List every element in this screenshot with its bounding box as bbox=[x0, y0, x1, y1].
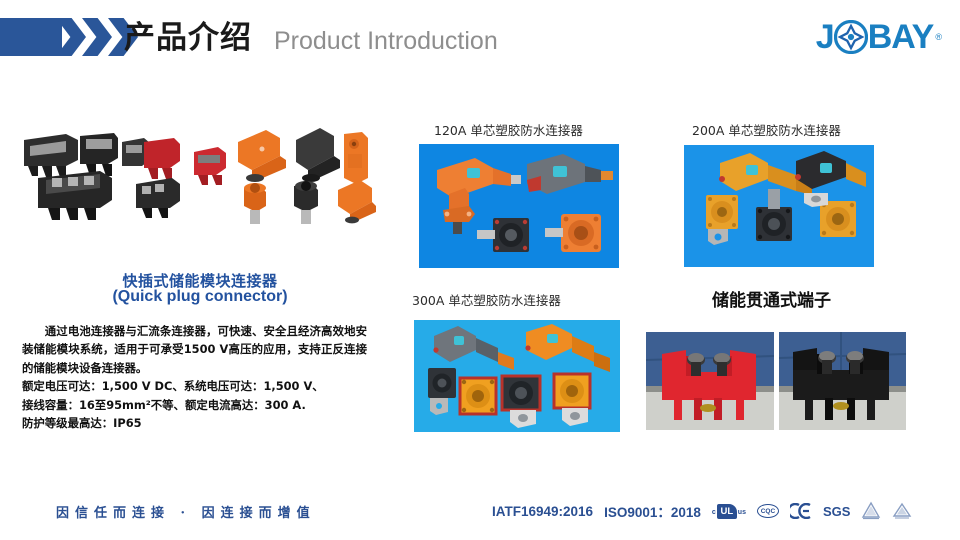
body-paragraph-1: 通过电池连接器与汇流条连接器，可快速、安全且经济高效地安装储能模块系统，适用于可… bbox=[22, 322, 367, 377]
cert-iso-label: ISO9001：2018 bbox=[604, 501, 701, 521]
gallery-photo-120a bbox=[419, 144, 619, 268]
logo-text-bay: BAY bbox=[868, 17, 934, 57]
gallery-photo-200a bbox=[684, 145, 874, 267]
left-body-text: 通过电池连接器与汇流条连接器，可快速、安全且经济高效地安装储能模块系统，适用于可… bbox=[22, 322, 367, 432]
gallery-photo-300a bbox=[414, 320, 620, 432]
body-paragraph-2: 额定电压可达：1,500 V DC、系统电压可达：1,500 V、 bbox=[22, 377, 367, 395]
slide-header: 产品介绍 Product Introduction J BAY ® bbox=[0, 0, 960, 78]
body-paragraph-3: 接线容量：16至95mm²不等、额定电流高达：300 A. bbox=[22, 396, 367, 414]
footer-slogan: 因信任而连接 · 因连接而增值 bbox=[56, 502, 316, 521]
gallery-caption-300a: 300A 单芯塑胶防水连接器 bbox=[412, 290, 561, 309]
page-title-cn: 产品介绍 bbox=[124, 19, 252, 57]
chevron-icon-2 bbox=[82, 18, 112, 56]
cul-us-suffix: us bbox=[738, 509, 746, 516]
cqc-mark-icon: CQC bbox=[757, 504, 779, 518]
left-subtitle-en: (Quick plug connector) bbox=[0, 288, 400, 306]
left-product-photo bbox=[8, 116, 380, 226]
logo-text-j: J bbox=[816, 17, 834, 57]
cqc-oval-label: CQC bbox=[757, 504, 779, 518]
ce-mark-icon bbox=[790, 503, 812, 519]
registered-icon: ® bbox=[935, 32, 942, 42]
brand-logo: J BAY ® bbox=[816, 16, 942, 58]
cul-us-prefix: c bbox=[712, 509, 716, 516]
gallery-caption-120a: 120A 单芯塑胶防水连接器 bbox=[434, 120, 583, 139]
slide-root: 产品介绍 Product Introduction J BAY ® bbox=[0, 0, 960, 540]
body-paragraph-4: 防护等级最高达：IP65 bbox=[22, 414, 367, 432]
cul-us-mark-icon: c UL us bbox=[712, 504, 746, 519]
footer-certifications: IATF16949:2016 ISO9001：2018 c UL us CQC … bbox=[492, 501, 912, 521]
gallery-photo-terminal-black bbox=[779, 332, 906, 430]
gallery-caption-terminal: 储能贯通式端子 bbox=[712, 286, 831, 311]
pse-mark-icon bbox=[861, 501, 881, 521]
delta-mark-icon bbox=[892, 501, 912, 521]
jobay-star-o-icon bbox=[834, 20, 868, 54]
page-title-en: Product Introduction bbox=[274, 24, 498, 58]
sgs-mark-icon: SGS bbox=[823, 504, 850, 519]
slide-footer: 因信任而连接 · 因连接而增值 IATF16949:2016 ISO9001：2… bbox=[0, 492, 960, 540]
cert-iatf-label: IATF16949:2016 bbox=[492, 504, 593, 519]
cul-us-badge: UL bbox=[717, 504, 737, 519]
chevron-band-body bbox=[0, 18, 62, 56]
gallery-photo-terminal-red bbox=[646, 332, 774, 430]
gallery-caption-200a: 200A 单芯塑胶防水连接器 bbox=[692, 120, 841, 139]
